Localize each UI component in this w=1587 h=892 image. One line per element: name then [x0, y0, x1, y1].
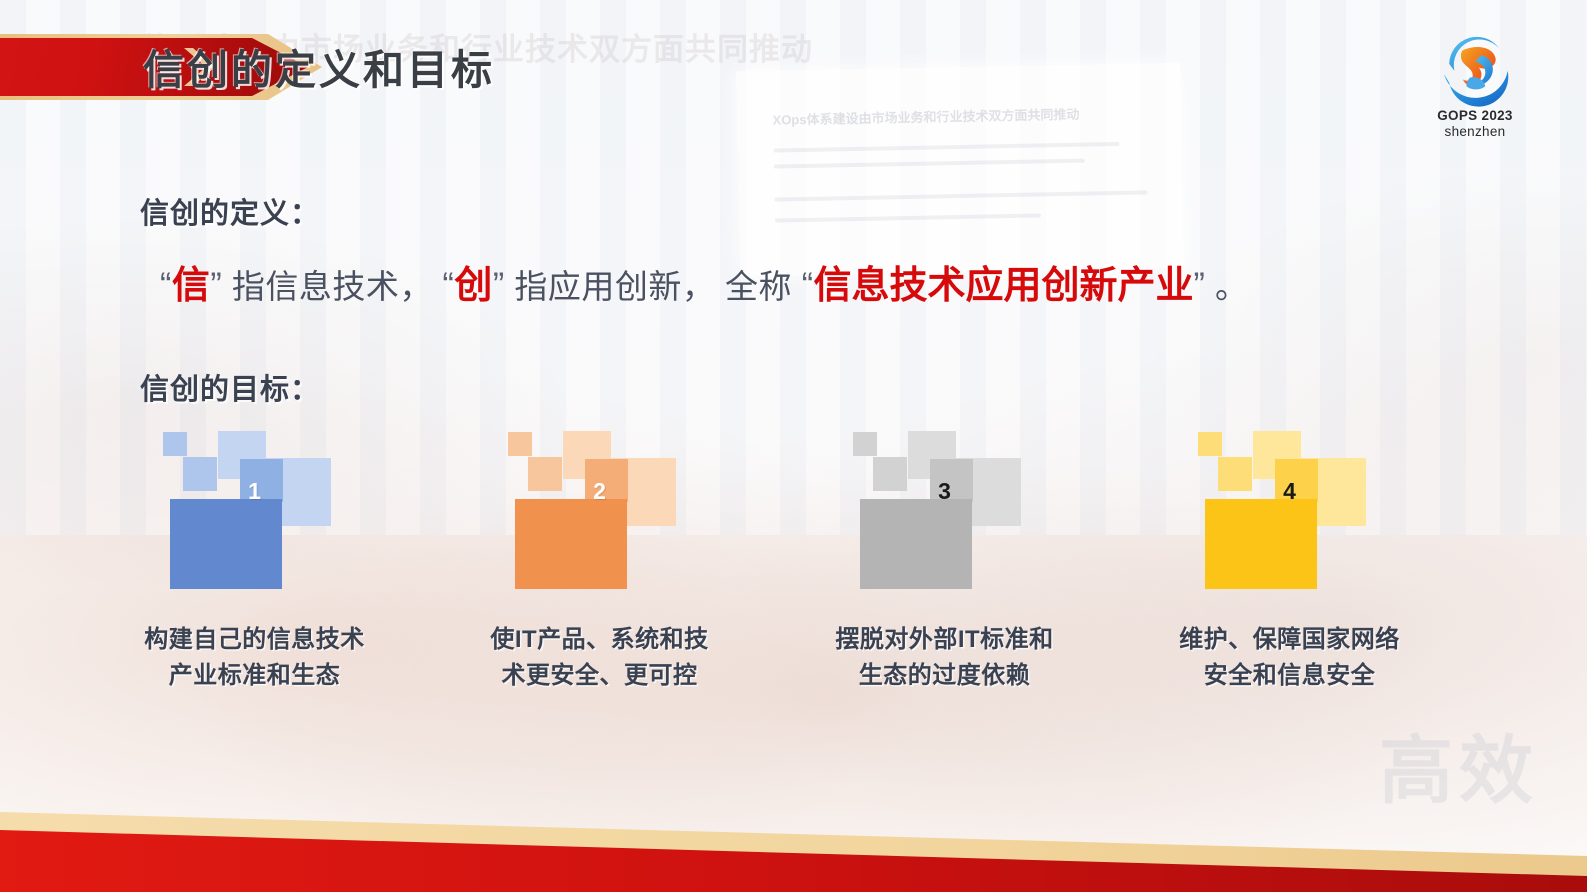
- definition-separator-1: ，: [399, 268, 433, 305]
- goal-4-caption-line-1: 维护、保障国家网络: [1117, 622, 1462, 658]
- page-title: 信创的定义和目标: [143, 36, 495, 96]
- definition-term-2: 创: [454, 265, 493, 307]
- goal-2-blocks-icon: 2: [490, 430, 710, 590]
- goal-2-square-a: [508, 432, 532, 456]
- definition-heading: 信创的定义：: [140, 190, 320, 232]
- gops-logo: GOPS 2023 shenzhen: [1421, 26, 1529, 139]
- definition-separator-2: ，: [682, 268, 716, 305]
- goal-4-square-main: [1205, 499, 1317, 589]
- quote-close-2: ”: [493, 266, 505, 304]
- goal-4-number: 4: [1180, 478, 1400, 505]
- goal-1-caption: 构建自己的信息技术 产业标准和生态: [82, 622, 427, 695]
- definition-term-1: 信: [172, 265, 211, 307]
- goal-1-blocks-icon: 1: [145, 430, 365, 590]
- goal-item-1: 1 构建自己的信息技术 产业标准和生态: [82, 430, 427, 695]
- goal-1-number: 1: [145, 478, 365, 505]
- goal-3-caption-line-1: 摆脱对外部IT标准和: [772, 622, 1117, 658]
- gops-logo-mark: [1432, 26, 1518, 112]
- goal-3-blocks-icon: 3: [835, 430, 1055, 590]
- goal-2-number: 2: [490, 478, 710, 505]
- definition-fullname-label: 全称: [725, 268, 792, 305]
- quote-open-3: “: [802, 266, 814, 304]
- goal-item-2: 2 使IT产品、系统和技 术更安全、更可控: [427, 430, 772, 695]
- goal-4-blocks-icon: 4: [1180, 430, 1400, 590]
- quote-close-1: ”: [210, 266, 222, 304]
- goal-3-caption-line-2: 生态的过度依赖: [772, 658, 1117, 694]
- definition-term-1-desc: 指信息技术: [232, 268, 400, 305]
- gops-logo-title: GOPS 2023: [1421, 108, 1529, 123]
- goal-1-square-a: [163, 432, 187, 456]
- definition-full-name: 信息技术应用创新产业: [814, 265, 1194, 307]
- gops-logo-subtitle: shenzhen: [1421, 124, 1529, 139]
- definition-sentence: “信” 指信息技术， “创” 指应用创新， 全称 “信息技术应用创新产业” 。: [160, 254, 1460, 309]
- bottom-decorative-band: [0, 772, 1587, 892]
- goal-1-square-main: [170, 499, 282, 589]
- goal-4-square-a: [1198, 432, 1222, 456]
- goal-4-caption-line-2: 安全和信息安全: [1117, 658, 1462, 694]
- goals-heading: 信创的目标：: [140, 366, 320, 408]
- goal-2-caption: 使IT产品、系统和技 术更安全、更可控: [427, 622, 772, 695]
- goal-2-square-main: [515, 499, 627, 589]
- goal-1-caption-line-1: 构建自己的信息技术: [82, 622, 427, 658]
- goal-item-3: 3 摆脱对外部IT标准和 生态的过度依赖: [772, 430, 1117, 695]
- quote-open-2: “: [443, 266, 455, 304]
- quote-close-3: ”: [1194, 266, 1206, 304]
- goal-4-caption: 维护、保障国家网络 安全和信息安全: [1117, 622, 1462, 695]
- goal-3-number: 3: [835, 478, 1055, 505]
- goal-item-4: 4 维护、保障国家网络 安全和信息安全: [1117, 430, 1462, 695]
- background-projector-screen: XOps体系建设由市场业务和行业技术双方面共同推动: [736, 63, 1184, 277]
- background-screen-title: XOps体系建设由市场业务和行业技术双方面共同推动: [772, 104, 1079, 129]
- definition-term-2-desc: 指应用创新: [514, 268, 682, 305]
- goal-2-caption-line-1: 使IT产品、系统和技: [427, 622, 772, 658]
- quote-open-1: “: [160, 266, 172, 304]
- goals-list: 1 构建自己的信息技术 产业标准和生态 2 使IT产品、系统和技 术更安全、更可…: [0, 430, 1587, 700]
- slide-canvas: XOps体系建设由市场业务和行业技术双方面共同推动 XOps体系建设由市场业务和…: [0, 0, 1587, 892]
- definition-period: 。: [1215, 268, 1249, 305]
- goal-3-square-main: [860, 499, 972, 589]
- goal-1-caption-line-2: 产业标准和生态: [82, 658, 427, 694]
- goal-3-caption: 摆脱对外部IT标准和 生态的过度依赖: [772, 622, 1117, 695]
- goal-2-caption-line-2: 术更安全、更可控: [427, 658, 772, 694]
- goal-3-square-a: [853, 432, 877, 456]
